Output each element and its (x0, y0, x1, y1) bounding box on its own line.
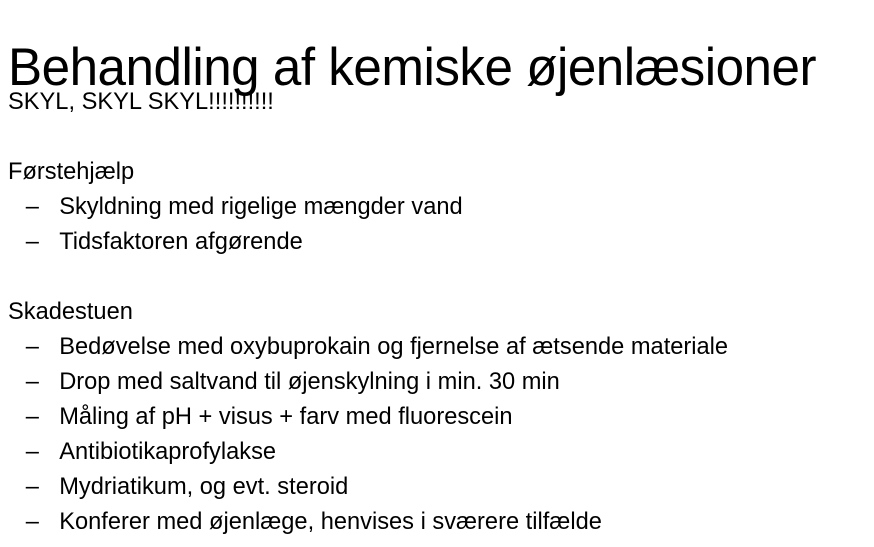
list-item-text: Tidsfaktoren afgørende (59, 228, 303, 255)
list-item-text: Mydriatikum, og evt. steroid (59, 473, 348, 500)
section-heading-foerstehjaelp: Førstehjælp (8, 154, 861, 189)
list-item: – Konferer med øjenlæge, henvises i svær… (8, 504, 861, 539)
list-item-text: Bedøvelse med oxybuprokain og fjernelse … (59, 333, 728, 360)
list-item-text: Drop med saltvand til øjenskylning i min… (59, 368, 560, 395)
dash-bullet-icon: – (26, 434, 46, 469)
list-item: – Tidsfaktoren afgørende (8, 224, 861, 259)
spacer-between-sections (8, 259, 861, 294)
list-item-text: Måling af pH + visus + farv med fluoresc… (59, 403, 512, 430)
dash-bullet-icon: – (26, 189, 46, 224)
lead-line: SKYL, SKYL SKYL!!!!!!!!!! (8, 84, 861, 119)
list-item-text: Skyldning med rigelige mængder vand (59, 193, 462, 220)
dash-bullet-icon: – (26, 329, 46, 364)
section-heading-skadestuen: Skadestuen (8, 294, 861, 329)
list-item-text: Konferer med øjenlæge, henvises i sværer… (59, 508, 602, 535)
section-heading-text: Skadestuen (8, 298, 133, 325)
list-item: – Bedøvelse med oxybuprokain og fjernels… (8, 329, 861, 364)
spacer-after-lead (8, 119, 861, 154)
list-item: – Antibiotikaprofylakse (8, 434, 861, 469)
dash-bullet-icon: – (26, 364, 46, 399)
list-item-text: Antibiotikaprofylakse (59, 438, 276, 465)
lead-line-text: SKYL, SKYL SKYL!!!!!!!!!! (8, 88, 274, 115)
list-item: – Skyldning med rigelige mængder vand (8, 189, 861, 224)
section-heading-text: Førstehjælp (8, 158, 134, 185)
dash-bullet-icon: – (26, 469, 46, 504)
dash-bullet-icon: – (26, 399, 46, 434)
slide-body: SKYL, SKYL SKYL!!!!!!!!!! Førstehjælp – … (8, 84, 874, 539)
list-item: – Måling af pH + visus + farv med fluore… (8, 399, 861, 434)
presentation-slide: Behandling af kemiske øjenlæsioner SKYL,… (0, 0, 874, 547)
list-item: – Drop med saltvand til øjenskylning i m… (8, 364, 861, 399)
list-item: – Mydriatikum, og evt. steroid (8, 469, 861, 504)
dash-bullet-icon: – (26, 504, 46, 539)
dash-bullet-icon: – (26, 224, 46, 259)
